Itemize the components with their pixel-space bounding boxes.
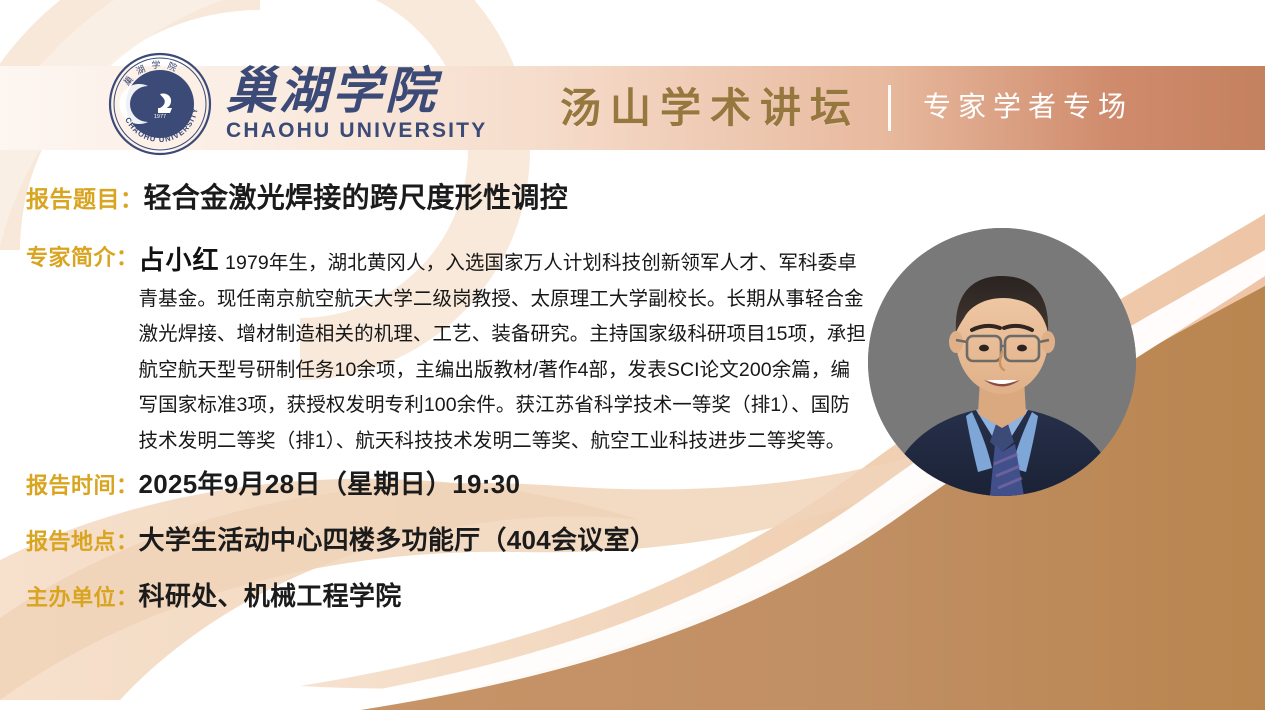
report-title-value: 轻合金激光焊接的跨尺度形性调控 bbox=[144, 176, 569, 216]
report-place-value: 大学生活动中心四楼多功能厅（404会议室） bbox=[139, 520, 657, 557]
row-report-place: 报告地点： 大学生活动中心四楼多功能厅（404会议室） bbox=[26, 520, 656, 557]
speaker-portrait bbox=[868, 228, 1136, 496]
report-place-label: 报告地点： bbox=[26, 524, 139, 556]
speaker-name: 占小红 bbox=[139, 245, 220, 275]
row-report-time: 报告时间： 2025年9月28日（星期日）19:30 bbox=[26, 464, 520, 501]
row-report-title: 报告题目： 轻合金激光焊接的跨尺度形性调控 bbox=[26, 176, 568, 216]
speaker-bio-body: 占小红 1979年生，湖北黄冈人，入选国家万人计划科技创新领军人才、军科委卓青基… bbox=[139, 240, 867, 459]
row-host-org: 主办单位： 科研处、机械工程学院 bbox=[26, 576, 402, 613]
host-org-label: 主办单位： bbox=[26, 580, 139, 612]
report-time-value: 2025年9月28日（星期日）19:30 bbox=[139, 464, 521, 501]
row-speaker-bio: 专家简介： 占小红 1979年生，湖北黄冈人，入选国家万人计划科技创新领军人才、… bbox=[26, 240, 886, 459]
speaker-bio-label: 专家简介： bbox=[26, 240, 139, 272]
report-time-label: 报告时间： bbox=[26, 468, 139, 500]
speaker-portrait-image bbox=[868, 228, 1136, 496]
speaker-bio-text: 1979年生，湖北黄冈人，入选国家万人计划科技创新领军人才、军科委卓青基金。现任… bbox=[139, 252, 867, 452]
poster-canvas: 汤山学术讲坛 专家学者专场 1977 巢湖学院 CHAOHU UNIVERSIT… bbox=[0, 0, 1265, 710]
host-org-value: 科研处、机械工程学院 bbox=[139, 576, 402, 613]
report-title-label: 报告题目： bbox=[26, 180, 144, 214]
